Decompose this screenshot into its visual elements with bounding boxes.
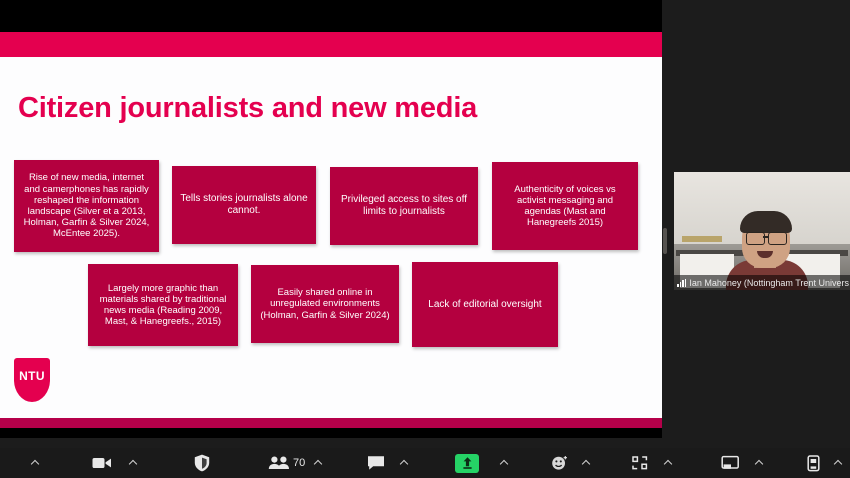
content-box-1: Rise of new media, internet and camerpho… [14,160,159,252]
participant-glasses-left [746,232,765,245]
content-box-2-text: Tells stories journalists alone cannot. [179,193,309,217]
video-name-bar: Ian Mahoney (Nottingham Trent Univers [674,275,850,290]
participant-glasses-right [768,232,787,245]
toolbar-breakout-rooms-button[interactable] [631,448,649,478]
content-box-5: Largely more graphic than materials shar… [88,264,238,346]
zoom-toolbar: 70 [0,448,850,478]
content-box-6-text: Easily shared online in unregulated envi… [258,287,392,321]
content-box-2: Tells stories journalists alone cannot. [172,166,316,244]
share-screen-icon[interactable] [455,454,479,473]
ntu-logo-text: NTU [19,369,45,383]
slide-title: Citizen journalists and new media [18,92,638,125]
chevron-up-icon-chat[interactable] [401,448,407,478]
content-box-4-text: Authenticity of voices vs activist messa… [499,184,631,229]
toolbar-notes-button[interactable] [806,448,821,478]
content-box-6: Easily shared online in unregulated envi… [251,265,399,343]
whiteboard-icon[interactable] [721,455,740,471]
toolbar-whiteboard-button[interactable] [721,448,740,478]
toolbar-reactions-button[interactable] [551,448,569,478]
chevron-up-icon-breakout[interactable] [665,448,671,478]
toolbar-share-screen-button[interactable] [455,448,479,478]
signal-bars-icon [677,279,686,287]
video-participant-name: Ian Mahoney (Nottingham Trent Univers [689,278,849,288]
toolbar-mute-button[interactable] [30,448,40,478]
ntu-shield-logo: NTU [14,358,50,402]
toolbar-video-button[interactable] [92,448,112,478]
breakout-rooms-icon[interactable] [631,455,649,471]
shield-icon[interactable] [194,454,210,472]
participant-hair [740,211,792,233]
chevron-up-icon-participants[interactable] [315,448,321,478]
content-box-4: Authenticity of voices vs activist messa… [492,162,638,250]
video-shelf-object [682,236,722,242]
chevron-up-icon-share[interactable] [501,448,507,478]
toolbar-chat-button[interactable] [367,448,385,478]
content-box-3: Privileged access to sites off limits to… [330,167,478,245]
content-box-1-text: Rise of new media, internet and camerpho… [21,172,152,239]
slide-bottom-accent-bar [0,418,662,428]
video-camera-icon[interactable] [92,456,112,470]
reactions-icon[interactable] [551,455,569,471]
content-box-3-text: Privileged access to sites off limits to… [337,194,471,218]
chevron-up-icon-video[interactable] [130,448,136,478]
shared-screen-stage: Citizen journalists and new media Rise o… [0,0,850,448]
slide-top-black-band [0,0,662,32]
participants-count: 70 [293,457,305,469]
chevron-up-icon-reactions[interactable] [583,448,589,478]
toolbar-participants-button[interactable]: 70 [268,448,305,478]
toolbar-security-button[interactable] [194,448,210,478]
content-box-7-text: Lack of editorial oversight [419,299,551,311]
chevron-up-icon-notes[interactable] [835,448,841,478]
chat-bubble-icon[interactable] [367,455,385,471]
thumbnail-strip-handle[interactable] [663,228,667,254]
video-tile-self[interactable]: Ian Mahoney (Nottingham Trent Univers [674,172,850,290]
slide-top-accent-bar [0,32,662,57]
content-box-5-text: Largely more graphic than materials shar… [95,283,231,328]
chevron-up-icon-audio[interactable] [30,448,40,478]
notes-icon[interactable] [806,455,821,472]
slide-bottom-black-band [0,428,662,438]
content-box-7: Lack of editorial oversight [412,262,558,347]
chevron-up-icon-whiteboard[interactable] [756,448,762,478]
participant-glasses-bridge [763,236,768,238]
presentation-slide: Citizen journalists and new media Rise o… [0,0,662,438]
participants-icon[interactable] [268,456,290,470]
zoom-meeting-window: Citizen journalists and new media Rise o… [0,0,850,478]
